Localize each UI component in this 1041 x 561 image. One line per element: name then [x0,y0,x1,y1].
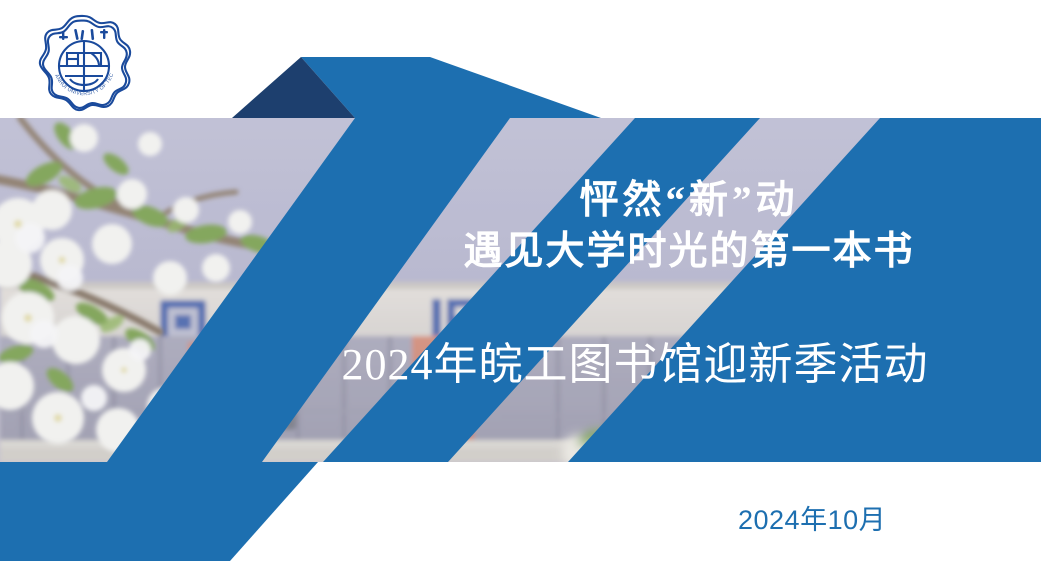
university-emblem-icon: ANHUI UNIVERSITY OF TECHNOLOGY [34,12,134,112]
event-date: 2024年10月 [738,503,886,537]
main-title: 怦然“新”动 遇见大学时光的第一本书 [429,176,949,278]
title-line-1: 怦然“新”动 [429,176,949,226]
title-line-2: 遇见大学时光的第一本书 [429,226,949,278]
event-subtitle: 2024年皖工图书馆迎新季活动 [325,337,945,393]
university-logo: ANHUI UNIVERSITY OF TECHNOLOGY [34,12,134,112]
text-layer: 怦然“新”动 遇见大学时光的第一本书 2024年皖工图书馆迎新季活动 2024年… [0,0,1041,561]
poster-slide: ANHUI UNIVERSITY OF TECHNOLOGY 怦然“新”动 遇见… [0,0,1041,561]
